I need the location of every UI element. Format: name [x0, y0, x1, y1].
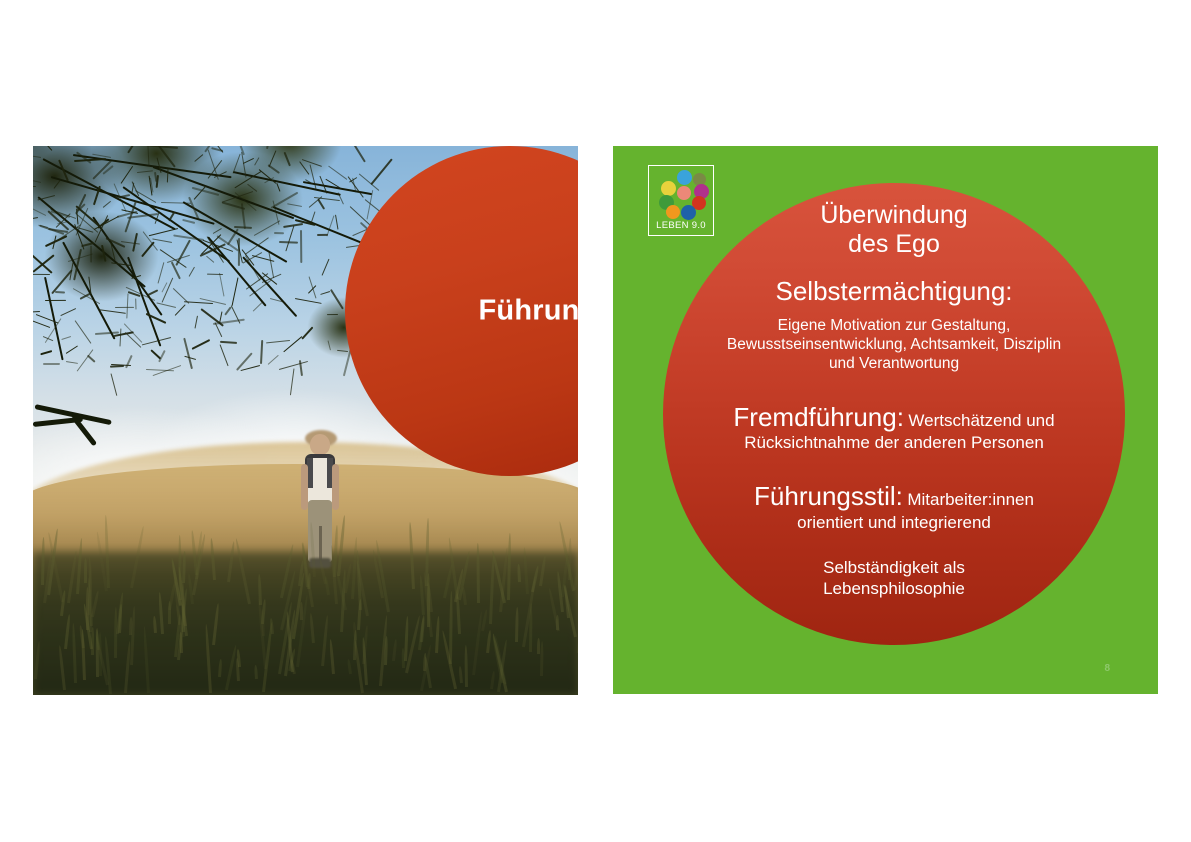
pine-needle-icon	[300, 230, 302, 263]
grass-blade-icon	[540, 641, 544, 676]
grass-blade-icon	[84, 558, 87, 583]
fremdfuehrung-tail: Wertschätzend und	[908, 411, 1054, 430]
grass-blade-icon	[129, 617, 133, 635]
mixed-fremdfuehrung: Fremdführung: Wertschätzend und Rücksich…	[659, 402, 1129, 454]
fuehrungsstil-second-row: orientiert und integrierend	[663, 513, 1125, 533]
fuehrungsstil-label: Führungsstil:	[754, 481, 903, 511]
hiker-strap-left	[307, 458, 313, 488]
body-selbstermaechtigung: Eigene Motivation zur Gestaltung, Bewuss…	[657, 317, 1131, 374]
content-circle: Überwindung des Ego Selbstermächtigung: …	[663, 183, 1125, 645]
pine-needle-icon	[43, 363, 60, 365]
page-number: 8	[1104, 663, 1110, 674]
fuehrung-badge-label: Führung	[345, 295, 578, 328]
pine-needle-icon	[317, 233, 328, 235]
pine-needle-icon	[45, 299, 66, 300]
closing-line-1: Selbständigkeit als	[663, 557, 1125, 578]
pine-needle-icon	[207, 273, 223, 274]
body-line-3: und Verantwortung	[663, 355, 1125, 374]
pine-needle-icon	[55, 291, 65, 293]
hiker-arm-left	[301, 464, 308, 510]
pine-needle-icon	[274, 232, 284, 234]
pine-needle-icon	[90, 245, 91, 262]
grass-blade-icon	[427, 573, 430, 627]
grass-blade-icon	[537, 638, 540, 654]
grass-blade-icon	[464, 645, 468, 687]
hiker-arm-right	[332, 464, 339, 510]
fremdfuehrung-second-row: Rücksichtnahme der anderen Personen	[663, 433, 1125, 453]
dot-blue	[677, 170, 692, 185]
hiker-head	[310, 434, 330, 455]
pine-needle-icon	[238, 238, 240, 266]
grass-blade-icon	[423, 653, 427, 671]
circle-title-line-1: Überwindung	[663, 201, 1125, 230]
fremdfuehrung-first-row: Fremdführung: Wertschätzend und	[663, 402, 1125, 433]
circle-title-line-2: des Ego	[663, 230, 1125, 259]
slide-right[interactable]: LEBEN 9.0 Überwindung des Ego Selbstermä…	[613, 146, 1158, 694]
slide-deck-page: Führung LEBEN 9.0 Überwindung des Ego Se…	[0, 0, 1191, 842]
heading-selbstermaechtigung: Selbstermächtigung:	[663, 276, 1125, 307]
pine-needle-icon	[115, 307, 134, 308]
grass-blade-icon	[515, 607, 519, 642]
pine-needle-icon	[279, 241, 298, 244]
body-line-1: Eigene Motivation zur Gestaltung,	[663, 317, 1125, 336]
circle-title: Überwindung des Ego	[663, 201, 1125, 258]
fremdfuehrung-label: Fremdführung:	[733, 402, 904, 432]
dot-yellow	[661, 181, 676, 196]
closing-selbstaendigkeit: Selbständigkeit als Lebensphilosophie	[663, 557, 1125, 600]
dot-salmon	[677, 186, 691, 200]
body-line-2: Bewusstseinsentwicklung, Achtsamkeit, Di…	[663, 336, 1125, 355]
slide-left[interactable]: Führung	[33, 146, 578, 695]
hiker-leg-gap	[319, 526, 322, 562]
mixed-fuehrungsstil: Führungsstil: Mitarbeiter:innen orientie…	[659, 481, 1129, 533]
closing-line-2: Lebensphilosophie	[663, 578, 1125, 599]
fuehrungsstil-tail: Mitarbeiter:innen	[907, 490, 1034, 509]
fuehrungsstil-first-row: Führungsstil: Mitarbeiter:innen	[663, 481, 1125, 512]
